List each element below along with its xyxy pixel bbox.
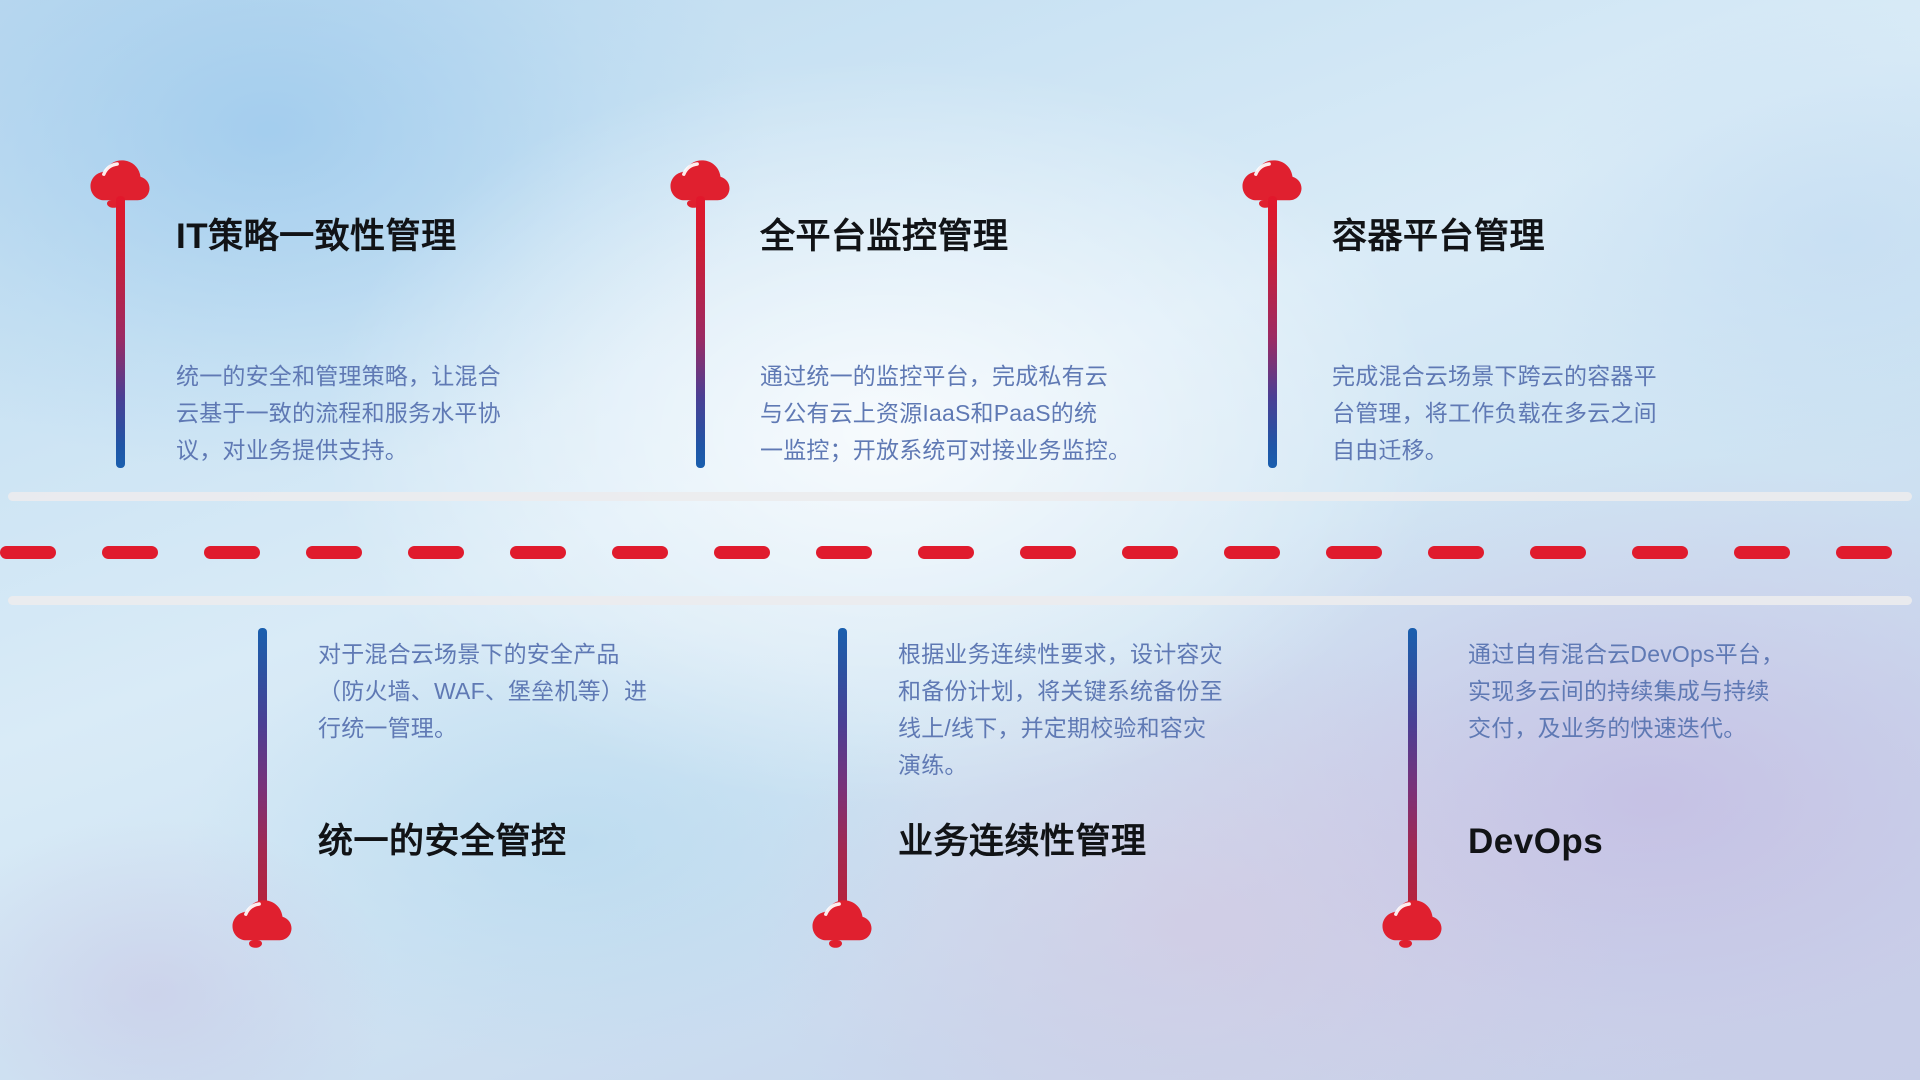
description-line: 议，对业务提供支持。 [176, 432, 606, 469]
infographic-stage: IT策略一致性管理 统一的安全和管理策略，让混合 云基于一致的流程和服务水平协 … [0, 0, 1920, 1080]
timeline-pole [1408, 628, 1417, 908]
dash-segment [1326, 546, 1382, 559]
description-line: 统一的安全和管理策略，让混合 [176, 358, 606, 395]
description-line: 完成混合云场景下跨云的容器平 [1332, 358, 1772, 395]
timeline-pole [258, 628, 267, 908]
cloud-icon [1380, 898, 1446, 948]
item-title: 全平台监控管理 [760, 218, 1009, 257]
description-line: 通过统一的监控平台，完成私有云 [760, 358, 1210, 395]
description-line: 一监控；开放系统可对接业务监控。 [760, 432, 1210, 469]
description-line: 和备份计划，将关键系统备份至 [898, 673, 1328, 710]
dash-segment [612, 546, 668, 559]
item-description: 通过自有混合云DevOps平台， 实现多云间的持续集成与持续 交付，及业务的快速… [1468, 636, 1898, 747]
item-title: 统一的安全管控 [318, 823, 567, 862]
description-line: 演练。 [898, 747, 1328, 784]
dash-segment [408, 546, 464, 559]
item-title: DevOps [1468, 823, 1603, 862]
description-line: 对于混合云场景下的安全产品 [318, 636, 738, 673]
dash-segment [1122, 546, 1178, 559]
dash-segment [714, 546, 770, 559]
dash-segment [1020, 546, 1076, 559]
description-line: 交付，及业务的快速迭代。 [1468, 710, 1898, 747]
dash-segment [1428, 546, 1484, 559]
item-title: IT策略一致性管理 [176, 218, 457, 257]
dash-segment [306, 546, 362, 559]
timeline-pole [116, 196, 125, 468]
dash-segment [1836, 546, 1892, 559]
description-line: （防火墙、WAF、堡垒机等）进 [318, 673, 738, 710]
dash-segment [510, 546, 566, 559]
description-line: 行统一管理。 [318, 710, 738, 747]
item-description: 完成混合云场景下跨云的容器平 台管理，将工作负载在多云之间 自由迁移。 [1332, 358, 1772, 469]
description-line: 台管理，将工作负载在多云之间 [1332, 395, 1772, 432]
dash-segment [918, 546, 974, 559]
divider-line-top [8, 492, 1912, 501]
description-line: 自由迁移。 [1332, 432, 1772, 469]
red-dashed-separator [0, 546, 1920, 559]
description-line: 根据业务连续性要求，设计容灾 [898, 636, 1328, 673]
dash-segment [816, 546, 872, 559]
cloud-icon [230, 898, 296, 948]
dash-segment [1530, 546, 1586, 559]
dash-segment [0, 546, 56, 559]
timeline-pole [696, 196, 705, 468]
item-description: 对于混合云场景下的安全产品 （防火墙、WAF、堡垒机等）进 行统一管理。 [318, 636, 738, 747]
item-title: 业务连续性管理 [898, 823, 1147, 862]
item-description: 统一的安全和管理策略，让混合 云基于一致的流程和服务水平协 议，对业务提供支持。 [176, 358, 606, 469]
timeline-pole [838, 628, 847, 908]
description-line: 与公有云上资源IaaS和PaaS的统 [760, 395, 1210, 432]
description-line: 通过自有混合云DevOps平台， [1468, 636, 1898, 673]
dash-segment [204, 546, 260, 559]
divider-line-bottom [8, 596, 1912, 605]
dash-segment [1734, 546, 1790, 559]
item-title: 容器平台管理 [1332, 218, 1545, 257]
item-description: 通过统一的监控平台，完成私有云 与公有云上资源IaaS和PaaS的统 一监控；开… [760, 358, 1210, 469]
timeline-pole [1268, 196, 1277, 468]
description-line: 线上/线下，并定期校验和容灾 [898, 710, 1328, 747]
dash-segment [1224, 546, 1280, 559]
dash-segment [102, 546, 158, 559]
description-line: 云基于一致的流程和服务水平协 [176, 395, 606, 432]
cloud-icon [810, 898, 876, 948]
description-line: 实现多云间的持续集成与持续 [1468, 673, 1898, 710]
dash-segment [1632, 546, 1688, 559]
item-description: 根据业务连续性要求，设计容灾 和备份计划，将关键系统备份至 线上/线下，并定期校… [898, 636, 1328, 784]
